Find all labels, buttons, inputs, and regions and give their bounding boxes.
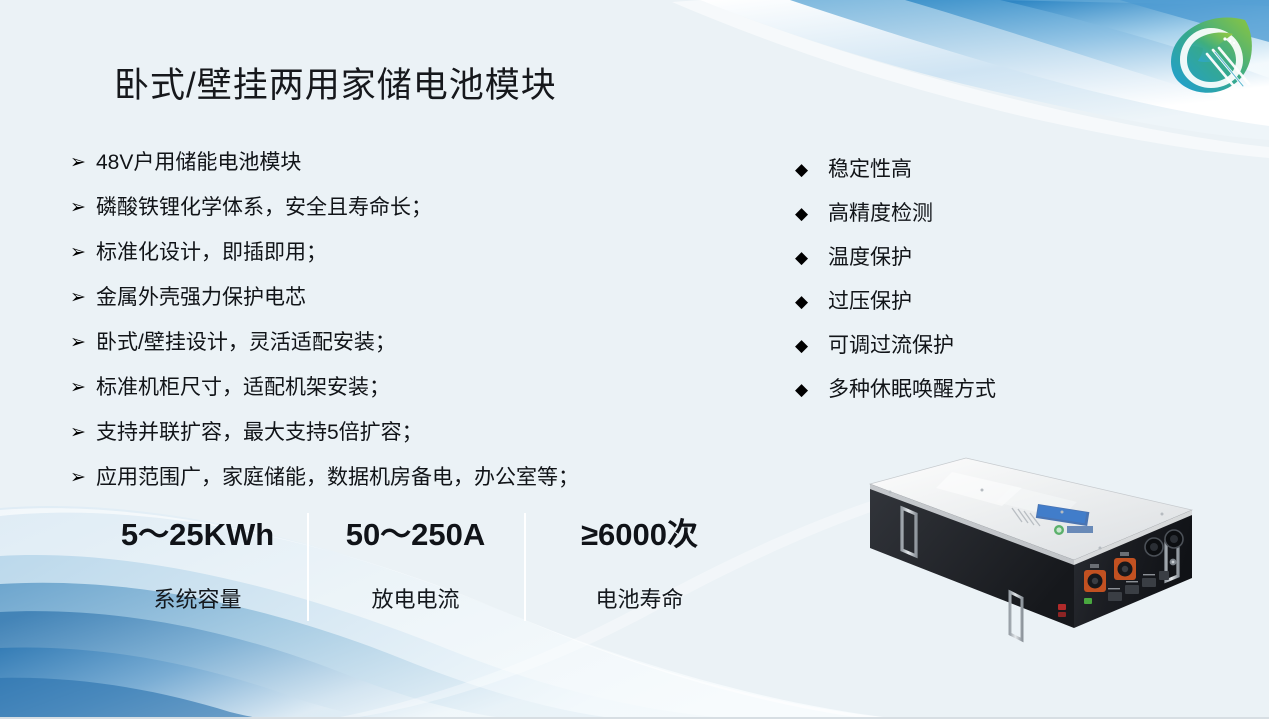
stat-block-capacity: 5～25KWh 系统容量 [90,513,305,617]
stats-row: 5～25KWh 系统容量 50～250A 放电电流 ≥6000次 电池寿命 [90,513,760,623]
stat-label: 系统容量 [90,583,305,617]
arrow-bullet-icon: ➢ [70,465,96,491]
stat-block-current: 50～250A 放电电流 [308,513,523,617]
list-item: ◆ 可调过流保护 [795,332,1125,359]
diamond-bullet-icon: ◆ [795,156,828,183]
feature-text: 支持并联扩容，最大支持5倍扩容； [96,420,423,446]
arrow-bullet-icon: ➢ [70,240,96,266]
feature-text: 磷酸铁锂化学体系，安全且寿命长； [96,195,432,221]
arrow-bullet-icon: ➢ [70,150,96,176]
company-logo-icon [1163,6,1259,102]
diamond-bullet-icon: ◆ [795,288,828,315]
stat-divider [524,513,526,621]
feature-text: 稳定性高 [828,156,912,183]
list-item: ◆ 稳定性高 [795,156,1125,183]
feature-text: 应用范围广，家庭储能，数据机房备电，办公室等； [96,465,579,491]
feature-text: 标准机柜尺寸，适配机架安装； [96,375,390,401]
arrow-bullet-icon: ➢ [70,375,96,401]
feature-list-right: ◆ 稳定性高 ◆ 高精度检测 ◆ 温度保护 ◆ 过压保护 ◆ 可调过流保护 ◆ … [795,156,1125,420]
arrow-bullet-icon: ➢ [70,285,96,311]
stat-block-lifetime: ≥6000次 电池寿命 [532,513,747,617]
feature-text: 温度保护 [828,244,912,271]
arrow-bullet-icon: ➢ [70,330,96,356]
slide-title: 卧式/壁挂两用家储电池模块 [114,57,557,108]
diamond-bullet-icon: ◆ [795,332,828,359]
feature-text: 可调过流保护 [828,332,954,359]
stat-value: 50～250A [308,513,523,557]
feature-text: 多种休眠唤醒方式 [828,376,996,403]
diamond-bullet-icon: ◆ [795,244,828,271]
diamond-bullet-icon: ◆ [795,376,828,403]
battery-module-photo [862,452,1202,652]
feature-list-left: ➢ 48V户用储能电池模块 ➢ 磷酸铁锂化学体系，安全且寿命长； ➢ 标准化设计… [70,150,710,510]
list-item: ◆ 多种休眠唤醒方式 [795,376,1125,403]
slide-canvas: 卧式/壁挂两用家储电池模块 ➢ 48V户用储能电池模块 ➢ 磷酸铁锂化学体系，安… [0,0,1269,719]
list-item: ◆ 高精度检测 [795,200,1125,227]
feature-text: 卧式/壁挂设计，灵活适配安装； [96,330,396,356]
stat-label: 电池寿命 [532,583,747,617]
stat-value: ≥6000次 [532,513,747,557]
feature-text: 高精度检测 [828,200,933,227]
list-item: ➢ 标准化设计，即插即用； [70,240,710,266]
list-item: ➢ 金属外壳强力保护电芯 [70,285,710,311]
feature-text: 金属外壳强力保护电芯 [96,285,306,311]
list-item: ➢ 支持并联扩容，最大支持5倍扩容； [70,420,710,446]
feature-text: 过压保护 [828,288,912,315]
list-item: ◆ 温度保护 [795,244,1125,271]
list-item: ➢ 磷酸铁锂化学体系，安全且寿命长； [70,195,710,221]
stat-label: 放电电流 [308,583,523,617]
arrow-bullet-icon: ➢ [70,420,96,446]
diamond-bullet-icon: ◆ [795,200,828,227]
arrow-bullet-icon: ➢ [70,195,96,221]
list-item: ◆ 过压保护 [795,288,1125,315]
stat-value: 5～25KWh [90,513,305,557]
feature-text: 48V户用储能电池模块 [96,150,301,176]
list-item: ➢ 48V户用储能电池模块 [70,150,710,176]
list-item: ➢ 卧式/壁挂设计，灵活适配安装； [70,330,710,356]
feature-text: 标准化设计，即插即用； [96,240,327,266]
list-item: ➢ 应用范围广，家庭储能，数据机房备电，办公室等； [70,465,710,491]
list-item: ➢ 标准机柜尺寸，适配机架安装； [70,375,710,401]
